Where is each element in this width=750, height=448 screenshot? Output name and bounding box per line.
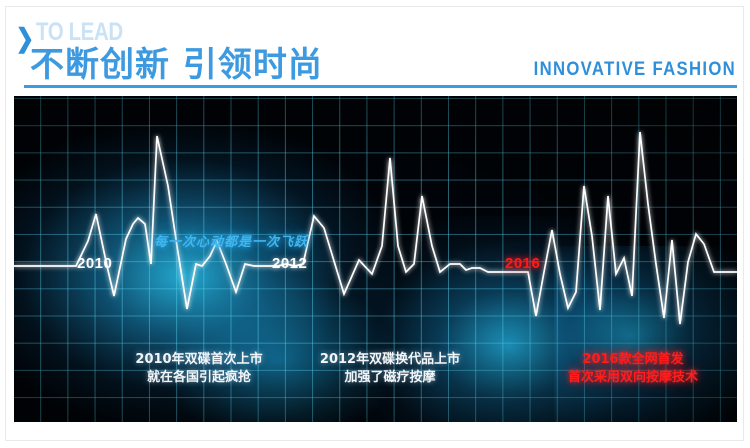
caption-2012-line1: 2012年双碟换代品上市: [290, 351, 490, 369]
chart-tagline: 每一次心动都是一次飞跃: [154, 235, 308, 250]
caption-2010-line1: 2010年双碟首次上市: [99, 351, 299, 369]
year-label-2012: 2012: [272, 256, 307, 271]
year-label-2016: 2016: [505, 256, 540, 271]
header-subtitle-en: INNOVATIVE FASHION: [534, 60, 736, 80]
page-title: 不断创新 引领时尚: [30, 46, 323, 84]
caption-2010-line2: 就在各国引起疯抢: [99, 369, 299, 387]
header-divider: [24, 85, 737, 88]
caption-2012: 2012年双碟换代品上市 加强了磁疗按摩: [290, 351, 490, 387]
year-label-2010: 2010: [77, 256, 112, 271]
page-root: ❯ TO LEAD 不断创新 引领时尚 INNOVATIVE FASHION 每…: [0, 0, 750, 448]
caption-2012-line2: 加强了磁疗按摩: [290, 369, 490, 387]
caption-2016: 2016款全网首发 首次采用双向按摩技术: [533, 351, 733, 387]
header-eyebrow: TO LEAD: [36, 20, 123, 45]
timeline-chart: 每一次心动都是一次飞跃 2010 2012 2016 2010年双碟首次上市 就…: [14, 96, 737, 422]
caption-2016-line2: 首次采用双向按摩技术: [533, 369, 733, 387]
caption-2010: 2010年双碟首次上市 就在各国引起疯抢: [99, 351, 299, 387]
caption-2016-line1: 2016款全网首发: [533, 351, 733, 369]
page-header: ❯ TO LEAD 不断创新 引领时尚 INNOVATIVE FASHION: [0, 0, 750, 96]
